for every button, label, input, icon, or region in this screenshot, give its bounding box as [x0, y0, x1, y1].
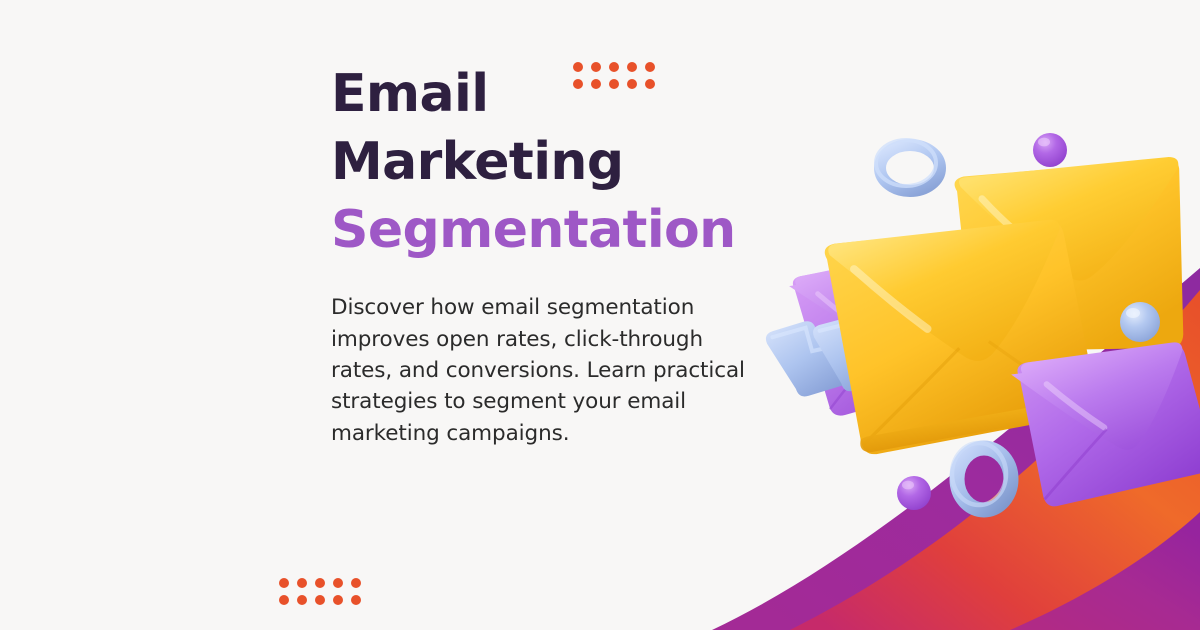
torus-blue-bottom-icon: [952, 443, 1011, 510]
torus-blue-top-icon: [876, 140, 940, 191]
sphere-purple-bottom-icon: [897, 476, 931, 510]
dot: [351, 595, 361, 605]
dot: [315, 578, 325, 588]
dot: [297, 595, 307, 605]
headline-line-2: Marketing: [331, 128, 761, 196]
sphere-purple-top-icon: [1033, 133, 1067, 167]
dot: [297, 578, 307, 588]
dot-grid-bottom: [279, 578, 361, 605]
dot: [279, 595, 289, 605]
dot: [333, 578, 343, 588]
text-block: Email Marketing Segmentation Discover ho…: [331, 60, 761, 449]
dot: [351, 578, 361, 588]
dot: [315, 595, 325, 605]
headline-line-3: Segmentation: [331, 196, 761, 264]
dot: [279, 578, 289, 588]
dot: [333, 595, 343, 605]
headline-line-1: Email: [331, 60, 761, 128]
sphere-blue-right-icon: [1120, 302, 1160, 342]
description-text: Discover how email segmentation improves…: [331, 292, 751, 449]
page-title: Email Marketing Segmentation: [331, 60, 761, 264]
email-envelopes-3d-illustration: [740, 110, 1200, 530]
email-marketing-banner: Email Marketing Segmentation Discover ho…: [0, 0, 1200, 630]
envelope-purple-right-icon: [1010, 339, 1200, 509]
